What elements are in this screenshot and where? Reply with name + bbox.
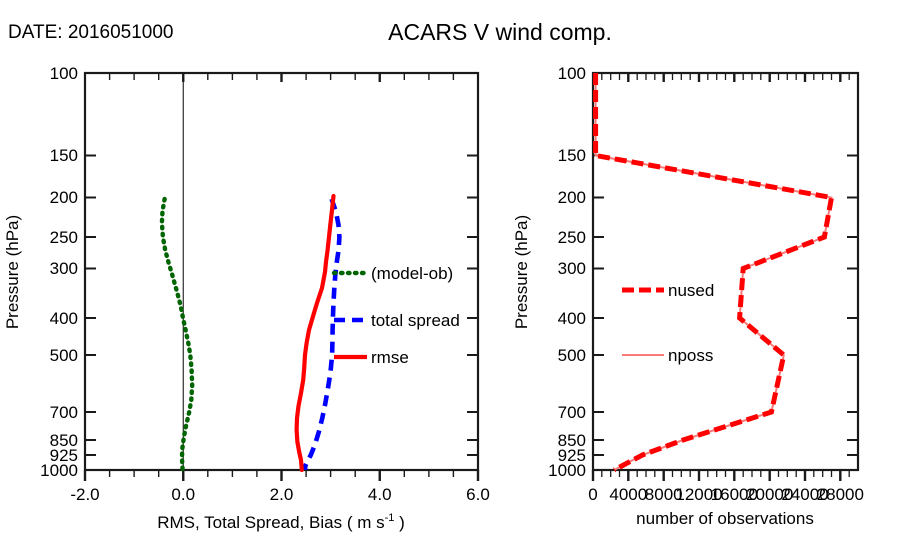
left-ytick-300: 300 bbox=[50, 259, 78, 278]
series-rmse-line bbox=[297, 196, 334, 470]
series-nposs-line bbox=[596, 73, 832, 470]
right-xtick-28000: 28000 bbox=[817, 485, 864, 504]
left-xaxis-title: RMS, Total Spread, Bias ( m s-1 ) bbox=[157, 512, 405, 532]
right-xtick-4000: 4000 bbox=[609, 485, 647, 504]
left-yaxis-title: Pressure (hPa) bbox=[3, 215, 22, 329]
page-title: ACARS V wind comp. bbox=[388, 19, 612, 45]
legend-label-nused: nused bbox=[668, 281, 714, 300]
right-panel-y-ticks bbox=[593, 73, 858, 470]
right-ytick-200: 200 bbox=[558, 188, 586, 207]
left-ytick-150: 150 bbox=[50, 146, 78, 165]
figure-canvas: DATE: 2016051000 ACARS V wind comp. bbox=[0, 0, 900, 560]
left-ytick-700: 700 bbox=[50, 403, 78, 422]
right-ytick-250: 250 bbox=[558, 228, 586, 247]
right-ytick-400: 400 bbox=[558, 309, 586, 328]
right-ytick-300: 300 bbox=[558, 259, 586, 278]
right-ytick-150: 150 bbox=[558, 146, 586, 165]
right-xaxis-title: number of observations bbox=[636, 509, 814, 528]
legend-label-rmse: rmse bbox=[371, 348, 409, 367]
right-yaxis-title: Pressure (hPa) bbox=[512, 215, 531, 329]
plot-svg: DATE: 2016051000 ACARS V wind comp. bbox=[0, 0, 900, 560]
right-panel-legend: nused nposs bbox=[622, 281, 714, 365]
legend-label-nposs: nposs bbox=[668, 346, 713, 365]
right-panel-frame bbox=[593, 73, 858, 470]
series-bias-line bbox=[162, 199, 192, 470]
left-ytick-1000: 1000 bbox=[40, 461, 78, 480]
left-ytick-400: 400 bbox=[50, 309, 78, 328]
statistics-panel: 100 150 200 250 300 400 500 700 850 925 … bbox=[3, 64, 490, 532]
right-panel-x-ticks bbox=[593, 73, 849, 481]
left-panel-legend: (model-ob) total spread rmse bbox=[334, 264, 460, 367]
left-xtick-neg2: -2.0 bbox=[70, 485, 99, 504]
left-ytick-500: 500 bbox=[50, 346, 78, 365]
left-ytick-100: 100 bbox=[50, 64, 78, 83]
left-xtick-0: 0.0 bbox=[171, 485, 195, 504]
left-ytick-250: 250 bbox=[50, 228, 78, 247]
date-label: DATE: 2016051000 bbox=[8, 22, 174, 43]
right-xtick-0: 0 bbox=[588, 485, 597, 504]
left-xtick-2: 2.0 bbox=[270, 485, 294, 504]
right-ytick-100: 100 bbox=[558, 64, 586, 83]
left-xtick-6: 6.0 bbox=[466, 485, 490, 504]
right-ytick-500: 500 bbox=[558, 346, 586, 365]
counts-panel: 100 150 200 250 300 400 500 700 850 925 … bbox=[512, 64, 864, 528]
right-ytick-1000: 1000 bbox=[548, 461, 586, 480]
series-nused-line bbox=[596, 73, 832, 470]
left-ytick-200: 200 bbox=[50, 188, 78, 207]
legend-label-total-spread: total spread bbox=[371, 311, 460, 330]
legend-label-bias: (model-ob) bbox=[371, 264, 453, 283]
right-ytick-700: 700 bbox=[558, 403, 586, 422]
left-xtick-4: 4.0 bbox=[368, 485, 392, 504]
